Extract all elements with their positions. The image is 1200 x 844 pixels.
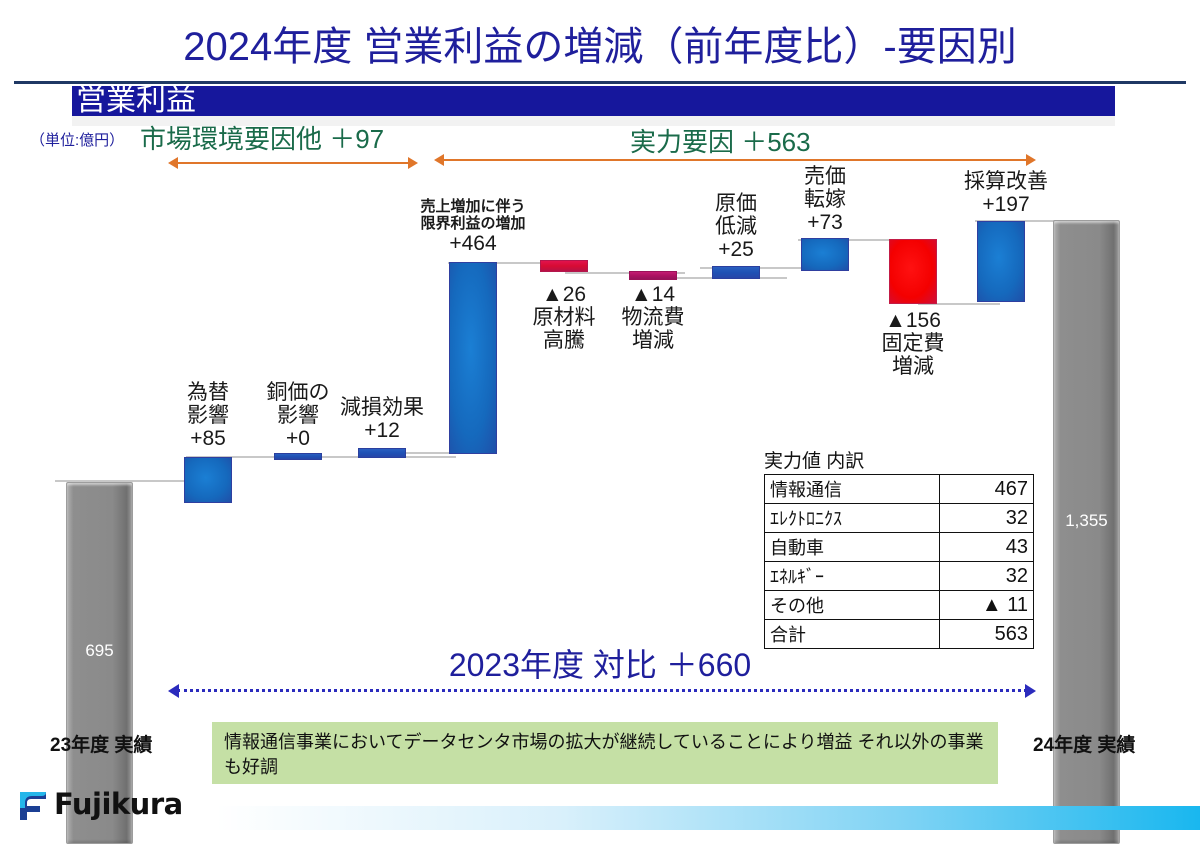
slide-root: 2024年度 営業利益の増減（前年度比）-要因別 営業利益 （単位:億円） 市場… (0, 0, 1200, 830)
table-row: 自動車 43 (765, 533, 1034, 562)
table-row: 情報通信 467 (765, 475, 1034, 504)
table-cell-name: ｴﾈﾙｷﾞｰ (765, 562, 940, 591)
table-cell-name: ｴﾚｸﾄﾛﾆｸｽ (765, 504, 940, 533)
label-impairment-effect: 減損効果 +12 (332, 396, 432, 442)
table-row: その他 ▲ 11 (765, 591, 1034, 620)
label-copper-price-value: +0 (286, 427, 310, 450)
label-fixed-cost-value: ▲156 (885, 309, 941, 332)
table-row: 合計 563 (765, 620, 1034, 649)
label-copper-price-text: 銅価の 影響 (267, 381, 330, 427)
unit-note: （単位:億円） (30, 129, 124, 150)
label-marginal-profit-value: +464 (449, 232, 496, 255)
page-title: 2024年度 営業利益の増減（前年度比）-要因別 (0, 14, 1200, 72)
bar-profitability-improvement (977, 221, 1025, 302)
bar-fixed-cost-change (889, 239, 937, 304)
label-fx-impact-text: 為替 影響 (187, 381, 229, 427)
label-logistics-text: 物流費 増減 (622, 306, 685, 352)
table-cell-name: 合計 (765, 620, 940, 649)
section-band (72, 86, 1115, 116)
label-impairment-effect-value: +12 (364, 419, 400, 442)
table-cell-name: 自動車 (765, 533, 940, 562)
callout-note: 情報通信事業においてデータセンタ市場の拡大が継続していることにより増益 それ以外… (212, 722, 998, 784)
breakdown-table: 情報通信 467 ｴﾚｸﾄﾛﾆｸｽ 32 自動車 43 ｴﾈﾙｷﾞｰ 32 その… (764, 474, 1034, 649)
fujikura-mark-icon (16, 788, 50, 822)
table-row: ｴﾚｸﾄﾛﾆｸｽ 32 (765, 504, 1034, 533)
label-fx-impact-value: +85 (190, 427, 226, 450)
axis-label-fy23: 23年度 実績 (50, 730, 152, 757)
label-fixed-cost-change: ▲156 固定費 増減 (863, 309, 963, 378)
label-price-pass-value: +73 (807, 211, 843, 234)
table-row: ｴﾈﾙｷﾞｰ 32 (765, 562, 1034, 591)
label-raw-material-surge: ▲26 原材料 高騰 (514, 283, 614, 352)
label-price-pass-text: 売価 転嫁 (804, 165, 846, 211)
label-price-pass-through: 売価 転嫁 +73 (775, 165, 875, 234)
bar-value-fy24: 1,355 (1054, 511, 1119, 531)
label-logistics-value: ▲14 (631, 283, 675, 306)
table-cell-name: その他 (765, 591, 940, 620)
table-cell-value: 32 (940, 504, 1034, 533)
logo-wordmark: Fujikura (54, 787, 183, 821)
label-profitability-improvement: 採算改善 +197 (951, 170, 1061, 216)
table-cell-value: ▲ 11 (940, 591, 1034, 620)
breakdown-table-title: 実力値 内訳 (764, 446, 1034, 473)
bar-marginal-profit-increase (449, 262, 497, 454)
table-cell-name: 情報通信 (765, 475, 940, 504)
bar-impairment-effect (358, 448, 406, 458)
bar-price-pass-through (801, 238, 849, 271)
footer-gradient (216, 806, 1200, 830)
label-cost-reduction-text: 原価 低減 (715, 192, 757, 238)
label-cost-reduction-value: +25 (718, 238, 754, 261)
table-cell-value: 467 (940, 475, 1034, 504)
table-cell-value: 563 (940, 620, 1034, 649)
bar-cost-reduction (712, 266, 760, 279)
bar-fx-impact (184, 457, 232, 503)
label-fx-impact: 為替 影響 +85 (158, 381, 258, 450)
bar-copper-price (274, 453, 322, 460)
bar-raw-material-surge (540, 260, 588, 272)
company-logo: Fujikura (16, 788, 206, 824)
axis-label-fy24: 24年度 実績 (1033, 730, 1135, 757)
label-marginal-profit-text: 売上増加に伴う 限界利益の増加 (420, 198, 525, 232)
label-impairment-effect-text: 減損効果 (340, 396, 424, 419)
label-cost-reduction: 原価 低減 +25 (686, 192, 786, 261)
bar-logistics-cost (629, 271, 677, 280)
label-logistics-cost: ▲14 物流費 増減 (603, 283, 703, 352)
label-profitability-text: 採算改善 (964, 170, 1048, 193)
label-profitability-value: +197 (982, 193, 1029, 216)
table-cell-value: 43 (940, 533, 1034, 562)
delta-arrow (168, 684, 1036, 698)
label-marginal-profit-value-wrap: +464 (398, 232, 548, 255)
label-raw-material-text: 原材料 高騰 (533, 306, 596, 352)
table-cell-value: 32 (940, 562, 1034, 591)
section-band-label: 営業利益 (76, 85, 196, 117)
label-marginal-profit-increase: 売上増加に伴う 限界利益の増加 (398, 198, 548, 232)
label-raw-material-value: ▲26 (542, 283, 586, 306)
breakdown-table-wrap: 実力値 内訳 情報通信 467 ｴﾚｸﾄﾛﾆｸｽ 32 自動車 43 ｴﾈﾙｷﾞ… (764, 446, 1034, 649)
label-fixed-cost-text: 固定費 増減 (882, 332, 945, 378)
